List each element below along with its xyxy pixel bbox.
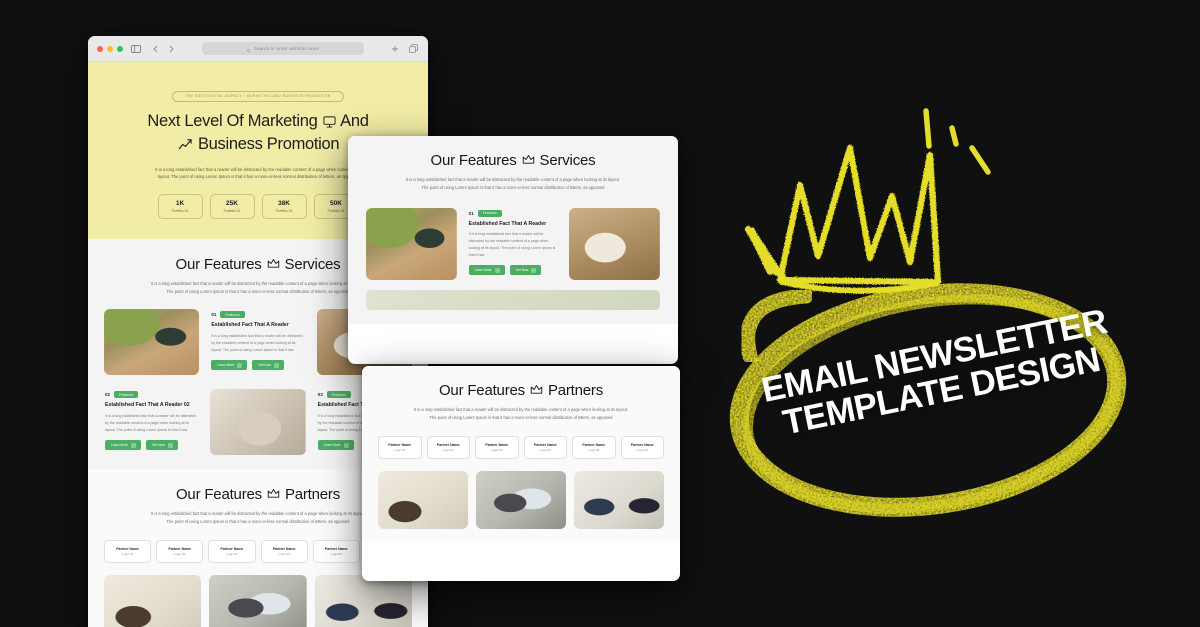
partner-item[interactable]: Partner NameLogo 06 — [621, 436, 665, 460]
plus-icon[interactable] — [389, 44, 400, 54]
partner-logo-label: Logo 01 — [107, 552, 148, 556]
learn-more-label: Learn More — [324, 443, 341, 447]
card-body: It is a long established fact that a rea… — [105, 413, 198, 434]
partner-name: Partner Name — [107, 547, 148, 551]
crown-icon — [267, 486, 280, 503]
hero-badge: THE BEST DIGITAL AGENCY • MARKETING AND … — [172, 91, 343, 102]
partner-item[interactable]: Partner NameLogo 05 — [313, 540, 360, 564]
partner-logo-label: Logo 04 — [527, 448, 565, 452]
card-number: 01 — [211, 312, 216, 317]
partner-logo-label: Logo 04 — [264, 552, 305, 556]
hero-subtitle: It is a long established fact that a rea… — [151, 166, 366, 182]
card-photo-laptop-plant-desk — [366, 208, 457, 280]
stat-label: Portfolio 02 — [220, 209, 245, 213]
learn-more-label: Learn More — [111, 443, 128, 447]
crown-icon — [530, 382, 543, 399]
stat-number: 50K — [324, 200, 349, 207]
search-icon — [247, 40, 251, 58]
page-content-partners: Our Features Partners It is a long estab… — [362, 366, 680, 555]
services-section-mid: Our Features Services It is a long estab… — [348, 136, 678, 324]
partner-logo-label: Logo 02 — [159, 552, 200, 556]
partner-name: Partner Name — [316, 547, 357, 551]
partner-name: Partner Name — [430, 443, 468, 447]
partner-item[interactable]: Partner NameLogo 04 — [261, 540, 308, 564]
partner-logo-label: Logo 01 — [381, 448, 419, 452]
partner-logo-label: Logo 06 — [624, 448, 662, 452]
team-photo-woman-startup-poster — [209, 575, 306, 627]
card-badge: Features — [327, 391, 351, 398]
arrow-box-icon — [237, 363, 242, 368]
partner-logo-label: Logo 05 — [575, 448, 613, 452]
minimize-button[interactable] — [107, 46, 113, 52]
close-button[interactable] — [97, 46, 103, 52]
stat-item: 25K Portfolio 02 — [210, 194, 255, 219]
partners-subtitle: It is a long established fact that a rea… — [151, 510, 366, 526]
partners-title: Our Features Partners — [378, 382, 664, 399]
arrow-box-icon — [168, 443, 173, 448]
partner-logo-label: Logo 05 — [316, 552, 357, 556]
partner-item[interactable]: Partner NameLogo 03 — [208, 540, 255, 564]
partners-section-front: Our Features Partners It is a long estab… — [362, 366, 680, 541]
card-badge: Features — [478, 210, 502, 217]
card-title: Established Fact That A Reader — [469, 221, 558, 228]
get-now-button[interactable]: Get Now — [146, 440, 178, 450]
learn-more-button[interactable]: Learn More — [105, 440, 141, 450]
team-photo-whiteboard-man — [378, 471, 468, 529]
partner-item[interactable]: Partner NameLogo 05 — [572, 436, 616, 460]
card-buttons: Learn More Get Now — [105, 440, 198, 450]
services-title-after: Services — [540, 152, 596, 169]
crown-icon — [267, 256, 280, 273]
stat-number: 38K — [272, 200, 297, 207]
partner-name: Partner Name — [381, 443, 419, 447]
crown-icon — [522, 152, 535, 169]
browser-window-services[interactable]: Our Features Services It is a long estab… — [348, 136, 678, 364]
learn-more-button[interactable]: Learn More — [318, 440, 354, 450]
card-number: 01 — [469, 211, 474, 216]
partners-title-before: Our Features — [176, 486, 262, 503]
poster-canvas: Search or enter website name THE BEST DI… — [0, 0, 1200, 627]
partner-logo-label: Logo 03 — [478, 448, 516, 452]
arrow-box-icon — [274, 363, 279, 368]
crown-drawing — [748, 148, 938, 291]
hero-title-line2: Business Promotion — [198, 135, 339, 153]
partner-item[interactable]: Partner NameLogo 01 — [104, 540, 151, 564]
card-buttons: Learn More Get Now — [211, 360, 304, 370]
partner-name: Partner Name — [575, 443, 613, 447]
team-photos-grid — [378, 471, 664, 529]
services-title-after: Services — [285, 256, 341, 273]
crown-and-oval-artwork — [720, 0, 1200, 627]
partners-title-before: Our Features — [439, 382, 525, 399]
partner-logo-label: Logo 02 — [430, 448, 468, 452]
feature-card: 02 Features Established Fact That A Read… — [104, 389, 199, 455]
partner-item[interactable]: Partner NameLogo 02 — [156, 540, 203, 564]
get-now-label: Get Now — [516, 268, 529, 272]
browser-chrome: Search or enter website name — [88, 36, 428, 62]
partner-item[interactable]: Partner NameLogo 01 — [378, 436, 422, 460]
card-badge: Features — [114, 391, 138, 398]
get-now-button[interactable]: Get Now — [510, 265, 542, 275]
hero-title-line1: Next Level Of Marketing — [147, 112, 317, 130]
partner-name: Partner Name — [624, 443, 662, 447]
services-title-before: Our Features — [431, 152, 517, 169]
card-body: It is a long established fact that a rea… — [211, 333, 304, 354]
stat-item: 1K Portfolio 01 — [158, 194, 203, 219]
hero-title-and: And — [340, 112, 368, 130]
stat-item: 38K Portfolio 03 — [262, 194, 307, 219]
forward-icon[interactable] — [166, 44, 177, 54]
feature-card: 01 Features Established Fact That A Read… — [468, 208, 559, 280]
partner-item[interactable]: Partner NameLogo 04 — [524, 436, 568, 460]
get-now-label: Get Now — [258, 363, 271, 367]
traffic-lights[interactable] — [97, 46, 123, 52]
card-photo-laptop-plant-desk — [104, 309, 199, 375]
arrow-box-icon — [344, 443, 349, 448]
browser-window-partners[interactable]: Our Features Partners It is a long estab… — [362, 366, 680, 581]
team-photos-grid — [104, 575, 412, 627]
learn-more-label: Learn More — [217, 363, 234, 367]
search-input[interactable]: Search or enter website name — [202, 42, 364, 55]
feature-card: 01 Features Established Fact That A Read… — [210, 309, 305, 375]
page-content-services: Our Features Services It is a long estab… — [348, 136, 678, 338]
team-photo-woman-startup-poster — [476, 471, 566, 529]
services-title-before: Our Features — [176, 256, 262, 273]
stat-number: 25K — [220, 200, 245, 207]
card-title: Established Fact That A Reader 02 — [105, 402, 198, 409]
team-photo-whiteboard-man — [104, 575, 201, 627]
card-number: 03 — [318, 392, 323, 397]
partner-name: Partner Name — [211, 547, 252, 551]
trend-up-arrow-icon — [178, 136, 193, 157]
partner-name: Partner Name — [478, 443, 516, 447]
learn-more-button[interactable]: Learn More — [469, 265, 505, 275]
get-now-button[interactable]: Get Now — [252, 360, 284, 370]
learn-more-label: Learn More — [475, 268, 492, 272]
services-title: Our Features Services — [366, 152, 660, 169]
card-number: 02 — [105, 392, 110, 397]
partners-subtitle: It is a long established fact that a rea… — [414, 406, 629, 422]
back-icon[interactable] — [150, 44, 161, 54]
copy-tabs-icon[interactable] — [408, 44, 419, 54]
card-photo-pen-notepad — [569, 208, 660, 280]
partner-name: Partner Name — [527, 443, 565, 447]
maximize-button[interactable] — [117, 46, 123, 52]
stat-label: Portfolio 01 — [168, 209, 193, 213]
presentation-board-icon — [323, 113, 336, 134]
card-body: It is a long established fact that a rea… — [469, 231, 558, 259]
arrow-box-icon — [495, 268, 500, 273]
get-now-label: Get Now — [152, 443, 165, 447]
partner-name: Partner Name — [264, 547, 305, 551]
services-subtitle: It is a long established fact that a rea… — [406, 176, 621, 192]
arrow-box-icon — [531, 268, 536, 273]
arrow-box-icon — [131, 443, 136, 448]
search-placeholder: Search or enter website name — [254, 46, 319, 51]
stat-label: Portfolio 04 — [324, 209, 349, 213]
note-card-marketing-strategy — [366, 290, 660, 310]
partner-item[interactable]: Partner NameLogo 02 — [427, 436, 471, 460]
card-badge: Features — [220, 311, 244, 318]
services-cards-row: 01 Features Established Fact That A Read… — [366, 208, 660, 280]
partner-logo-label: Logo 03 — [211, 552, 252, 556]
card-title: Established Fact That A Reader — [211, 322, 304, 329]
partners-title-after: Partners — [548, 382, 603, 399]
stat-number: 1K — [168, 200, 193, 207]
partner-name: Partner Name — [159, 547, 200, 551]
sidebar-icon[interactable] — [130, 44, 141, 54]
services-subtitle: It is a long established fact that a rea… — [151, 280, 366, 296]
stat-label: Portfolio 03 — [272, 209, 297, 213]
partners-title-after: Partners — [285, 486, 340, 503]
poster-headline: EMAIL NEWSLETTER TEMPLATE DESIGN — [748, 302, 1127, 447]
partners-grid: Partner NameLogo 01 Partner NameLogo 02 … — [378, 436, 664, 460]
learn-more-button[interactable]: Learn More — [211, 360, 247, 370]
card-buttons: Learn More Get Now — [469, 265, 558, 275]
partner-item[interactable]: Partner NameLogo 03 — [475, 436, 519, 460]
card-photo-hand-phone — [210, 389, 305, 455]
team-photo-two-people-whiteboard — [574, 471, 664, 529]
team-photo-two-people-whiteboard — [315, 575, 412, 627]
